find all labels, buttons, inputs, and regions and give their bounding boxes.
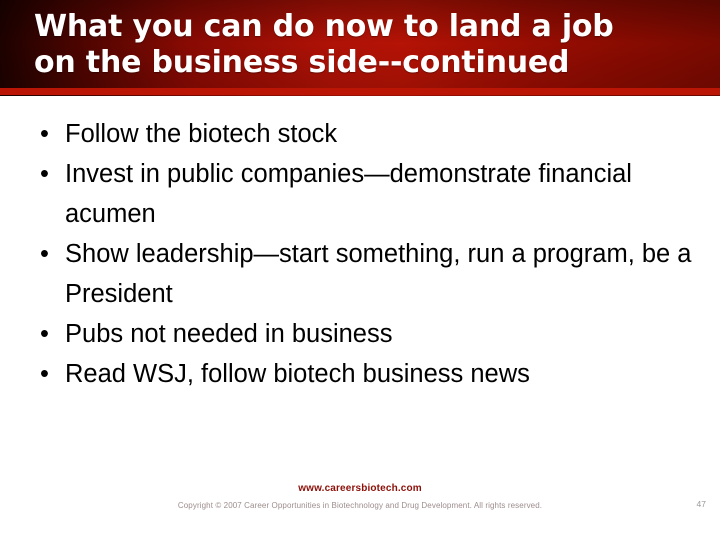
footer-copyright: Copyright © 2007 Career Opportunities in…	[0, 500, 720, 511]
list-item-label: Pubs not needed in business	[65, 320, 393, 348]
list-item-label: Show leadership—start something, run a p…	[65, 240, 692, 308]
list-item-label: Follow the biotech stock	[65, 120, 337, 148]
list-item: • Pubs not needed in business	[32, 314, 692, 354]
bullet-icon: •	[40, 314, 49, 354]
bullet-icon: •	[40, 234, 49, 274]
slide-canvas: What you can do now to land a job on the…	[0, 0, 720, 540]
list-item-label: Invest in public companies—demonstrate f…	[65, 160, 632, 228]
banner-accent-stripe	[0, 88, 720, 95]
bullet-icon: •	[40, 154, 49, 194]
list-item: • Follow the biotech stock	[32, 114, 692, 154]
page-title: What you can do now to land a job on the…	[34, 9, 694, 81]
page-number: 47	[697, 499, 706, 510]
list-item: • Invest in public companies—demonstrate…	[32, 154, 692, 234]
list-item: • Read WSJ, follow biotech business news	[32, 354, 692, 394]
list-item-label: Read WSJ, follow biotech business news	[65, 360, 530, 388]
bullet-list: • Follow the biotech stock • Invest in p…	[32, 114, 692, 394]
bullet-icon: •	[40, 354, 49, 394]
footer-website-link[interactable]: www.careersbiotech.com	[0, 482, 720, 495]
slide-title-banner: What you can do now to land a job on the…	[0, 0, 720, 96]
bullet-icon: •	[40, 114, 49, 154]
slide-footer: www.careersbiotech.com Copyright © 2007 …	[0, 482, 720, 511]
list-item: • Show leadership—start something, run a…	[32, 234, 692, 314]
